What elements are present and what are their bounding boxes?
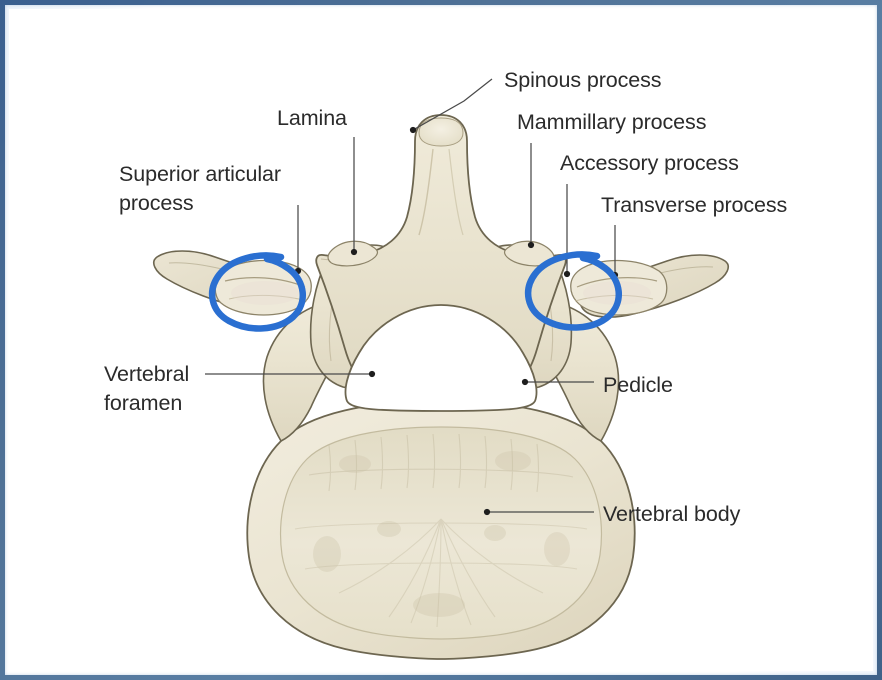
dot-vertebral-foramen (369, 371, 375, 377)
label-vertebral-body: Vertebral body (603, 500, 740, 529)
label-lamina: Lamina (277, 104, 347, 133)
vertebral-body (247, 401, 634, 659)
label-pedicle: Pedicle (603, 371, 673, 400)
dot-spinous-process (410, 127, 416, 133)
dot-pedicle (522, 379, 528, 385)
dot-lamina (351, 249, 357, 255)
dot-vertebral-body (484, 509, 490, 515)
label-superior-articular-process: Superior articular process (119, 160, 281, 217)
diagram-canvas: Spinous process Lamina Mammillary proces… (9, 9, 873, 671)
image-frame: Spinous process Lamina Mammillary proces… (0, 0, 882, 680)
dot-accessory-process (564, 271, 570, 277)
label-mammillary-process: Mammillary process (517, 108, 706, 137)
vertebra-illustration (9, 9, 873, 671)
label-transverse-process: Transverse process (601, 191, 787, 220)
label-accessory-process: Accessory process (560, 149, 739, 178)
label-spinous-process: Spinous process (504, 66, 661, 95)
dot-mammillary-process (528, 242, 534, 248)
label-vertebral-foramen: Vertebral foramen (104, 360, 189, 417)
